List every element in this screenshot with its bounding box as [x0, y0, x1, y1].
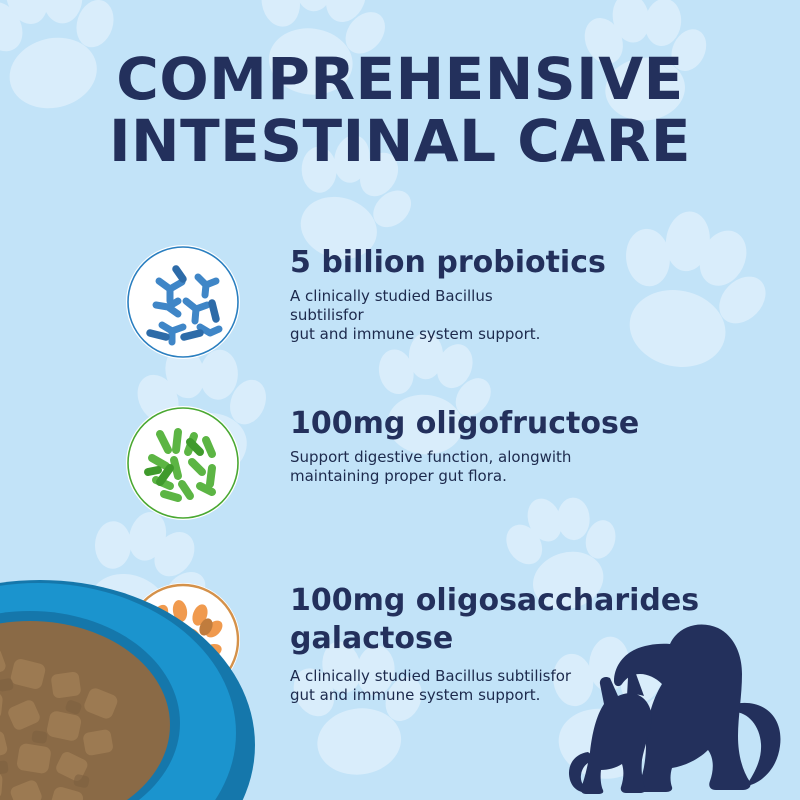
- feature-heading-1: 5 billion probiotics: [290, 245, 720, 281]
- title-line-2: INTESTINAL CARE: [0, 110, 800, 172]
- infographic-poster: COMPREHENSIVE INTESTINAL CARE: [0, 0, 800, 800]
- feature-icon-1: [126, 245, 240, 359]
- feature-body-line: maintaining proper gut flora.: [290, 467, 720, 486]
- feature-row-oligofructose: 100mg oligofructose Support digestive fu…: [126, 406, 726, 526]
- prebiotic-bacteria-green-icon: [126, 406, 240, 520]
- feature-icon-2: [126, 406, 240, 520]
- feature-body-line: gut and immune system support.: [290, 325, 720, 344]
- feature-body-1: A clinically studied Bacillus subtilisfo…: [290, 287, 720, 344]
- dog-and-cat-silhouette: [548, 612, 792, 800]
- probiotic-bacteria-blue-icon: [126, 245, 240, 359]
- feature-body-line: subtilisfor: [290, 306, 720, 325]
- feature-heading-2: 100mg oligofructose: [290, 406, 720, 442]
- feature-text-2: 100mg oligofructose Support digestive fu…: [290, 406, 720, 486]
- feature-body-line: Support digestive function, alongwith: [290, 448, 720, 467]
- feature-text-1: 5 billion probiotics A clinically studie…: [290, 245, 720, 344]
- feature-body-line: A clinically studied Bacillus: [290, 287, 720, 306]
- feature-body-2: Support digestive function, alongwith ma…: [290, 448, 720, 486]
- dog-food-bowl: [0, 555, 260, 800]
- feature-row-probiotics: 5 billion probiotics A clinically studie…: [126, 245, 726, 375]
- poster-title: COMPREHENSIVE INTESTINAL CARE: [0, 48, 800, 172]
- title-line-1: COMPREHENSIVE: [0, 48, 800, 110]
